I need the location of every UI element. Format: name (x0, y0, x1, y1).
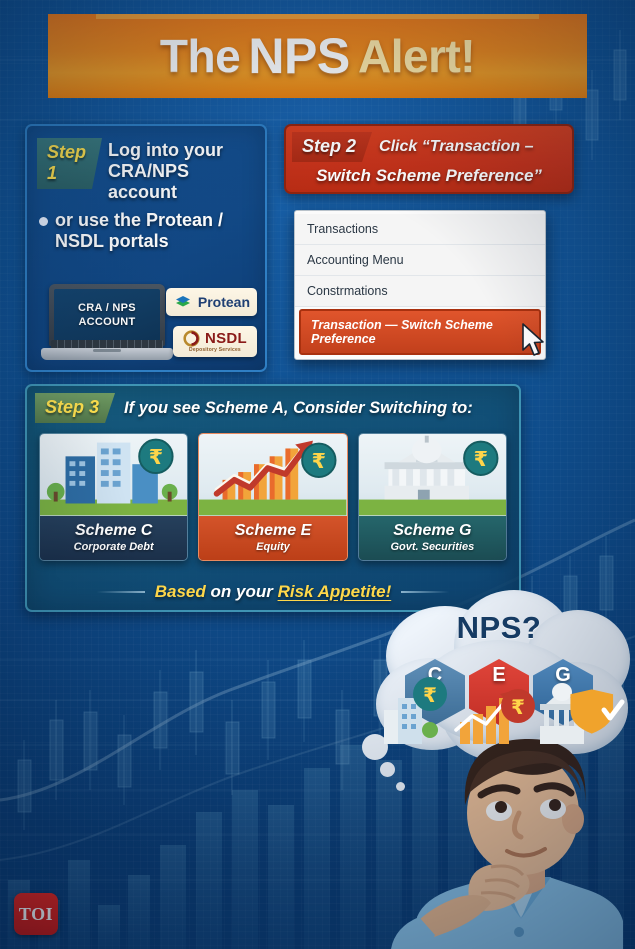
protean-mark-icon (173, 292, 193, 312)
nsdl-mark-icon (183, 330, 200, 347)
scheme-card-list: ₹ Scheme C Corporate Debt (27, 423, 519, 561)
scheme-c-subtitle: Corporate Debt (44, 541, 183, 553)
title-part-nps: NPS (248, 27, 349, 85)
bubble-badge-c: C (405, 659, 465, 725)
nsdl-logo-subtext: Depository Services (189, 347, 241, 353)
protean-logo-text: Protean (198, 294, 250, 310)
step-1-panel: Step 1 Log into your CRA/NPS account or … (25, 124, 267, 372)
rising-bar-chart-icon: ₹ (199, 434, 346, 516)
scheme-card-c[interactable]: ₹ Scheme C Corporate Debt (39, 433, 188, 561)
step-3-badge: Step 3 (35, 393, 115, 423)
mouse-pointer-icon (521, 323, 547, 357)
bubble-question-text: NPS? (368, 610, 630, 646)
scheme-card-e[interactable]: ₹ Scheme E Equity (198, 433, 347, 561)
menu-item-switch-scheme-preference[interactable]: Transaction — Switch Scheme Preference (299, 309, 541, 355)
scheme-e-subtitle: Equity (203, 541, 342, 553)
bubble-scheme-badges: C E G (374, 644, 624, 740)
toi-logo-text: TOI (19, 904, 53, 925)
menu-item-transactions[interactable]: Transactions (295, 214, 545, 245)
laptop-screen-text: CRA / NPS ACCOUNT (54, 289, 160, 341)
toi-logo[interactable]: TOI (14, 893, 58, 935)
bullet-dot-icon (39, 217, 48, 226)
divider-right (401, 591, 449, 593)
step-3-panel: Step 3 If you see Scheme A, Consider Swi… (25, 384, 521, 612)
scheme-g-subtitle: Govt. Securities (363, 541, 502, 553)
bubble-badge-c-letter: C (428, 664, 442, 687)
menu-item-accounting-menu[interactable]: Accounting Menu (295, 245, 545, 276)
cra-menu-dropdown[interactable]: Transactions Accounting Menu Constrmatio… (294, 210, 546, 360)
laptop-lid: CRA / NPS ACCOUNT (49, 284, 165, 346)
nsdl-logo-text: NSDL (205, 330, 247, 347)
infographic-poster: The NPS Alert! Step 1 Log into your CRA/… (0, 0, 635, 949)
government-building-icon: ₹ (359, 434, 506, 516)
scheme-c-name: Scheme C (44, 522, 183, 540)
title-banner: The NPS Alert! (0, 14, 635, 98)
scheme-g-name: Scheme G (363, 522, 502, 540)
bubble-badge-e-letter: E (492, 664, 505, 687)
svg-text:₹: ₹ (312, 449, 326, 473)
step-2-badge: Step 2 (292, 132, 372, 162)
page-title: The NPS Alert! (48, 14, 587, 98)
step-2-title-line1: Click “Transaction – (379, 138, 533, 156)
thinking-man-illustration (373, 721, 635, 949)
scheme-c-artwork: ₹ (40, 434, 187, 516)
risk-footer-pre: Based (155, 582, 211, 601)
svg-text:₹: ₹ (473, 447, 487, 471)
scheme-g-artwork: ₹ (359, 434, 506, 516)
menu-item-constrmations[interactable]: Constrmations (295, 276, 545, 307)
svg-text:₹: ₹ (149, 445, 163, 469)
laptop-illustration: CRA / NPS ACCOUNT (41, 284, 173, 362)
divider-left (97, 591, 145, 593)
scheme-e-name: Scheme E (203, 522, 342, 540)
bubble-badge-g: G (533, 659, 593, 725)
scheme-card-g[interactable]: ₹ Scheme G Govt. Securities (358, 433, 507, 561)
scheme-e-artwork: ₹ (199, 434, 346, 516)
bubble-badge-e: E (469, 659, 529, 725)
laptop-base (41, 348, 173, 360)
office-building-icon: ₹ (40, 434, 187, 516)
title-part-alert: Alert! (358, 29, 475, 83)
step-1-bullet-text: or use the Protean / NSDL portals (55, 210, 255, 253)
title-part-the: The (160, 29, 240, 83)
step-1-bullet: or use the Protean / NSDL portals (27, 204, 265, 253)
bubble-badge-g-letter: G (555, 664, 571, 687)
step-1-badge: Step 1 (37, 138, 102, 189)
nsdl-logo: NSDL Depository Services (173, 326, 257, 357)
protean-logo: Protean (166, 288, 257, 316)
step-2-panel: Step 2 Click “Transaction – Switch Schem… (284, 124, 574, 194)
step-2-title-line2: Switch Scheme Preference” (286, 162, 572, 186)
risk-footer-mid: on your (211, 582, 278, 601)
step-3-title: If you see Scheme A, Consider Switching … (124, 399, 473, 418)
step-1-title: Log into your CRA/NPS account (108, 138, 257, 204)
